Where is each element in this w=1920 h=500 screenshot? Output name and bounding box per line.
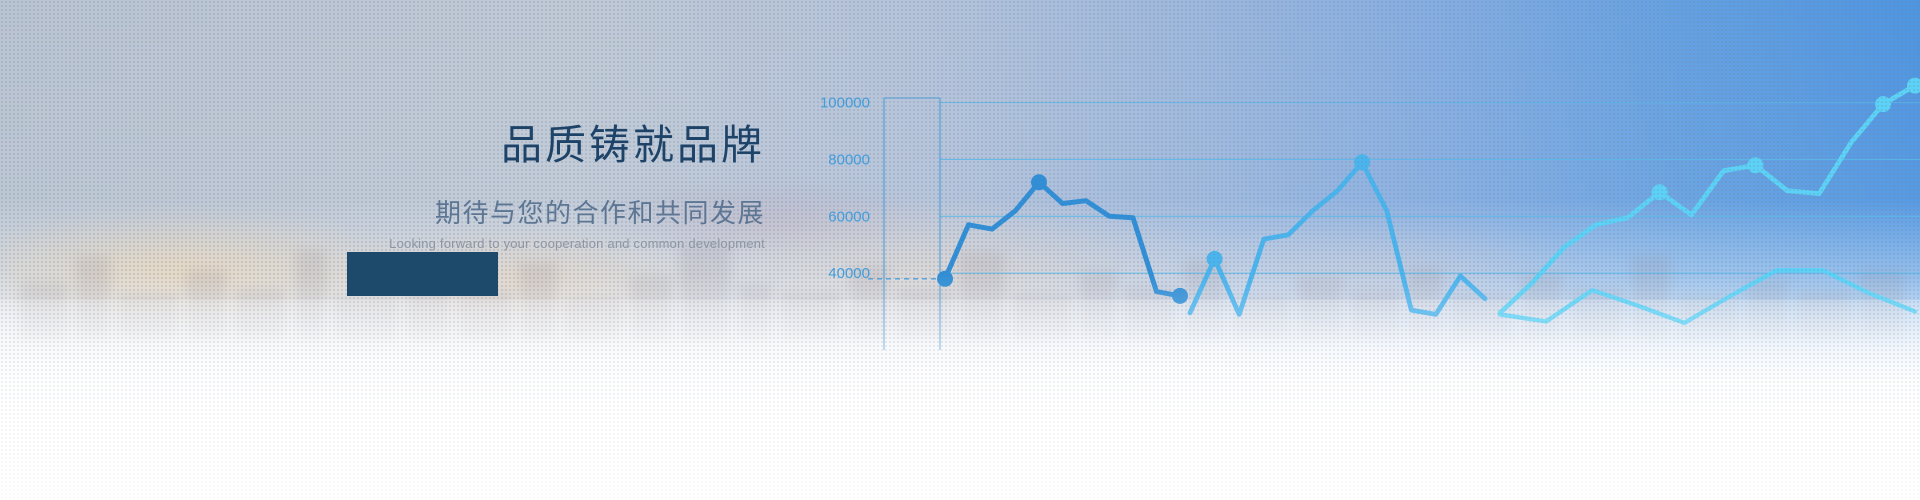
hero-subtitle-cn: 期待与您的合作和共同发展: [345, 193, 765, 230]
hero-copy-block: 品质铸就品牌 期待与您的合作和共同发展 Looking forward to y…: [345, 120, 765, 251]
hero-cta-button[interactable]: [347, 252, 498, 296]
hero-banner: 400006000080000100000 品质铸就品牌 期待与您的合作和共同发…: [0, 0, 1920, 500]
halftone-dot-overlay: [0, 0, 1920, 500]
page-title: 品质铸就品牌: [345, 120, 765, 171]
hero-subtitle-en: Looking forward to your cooperation and …: [345, 236, 765, 251]
